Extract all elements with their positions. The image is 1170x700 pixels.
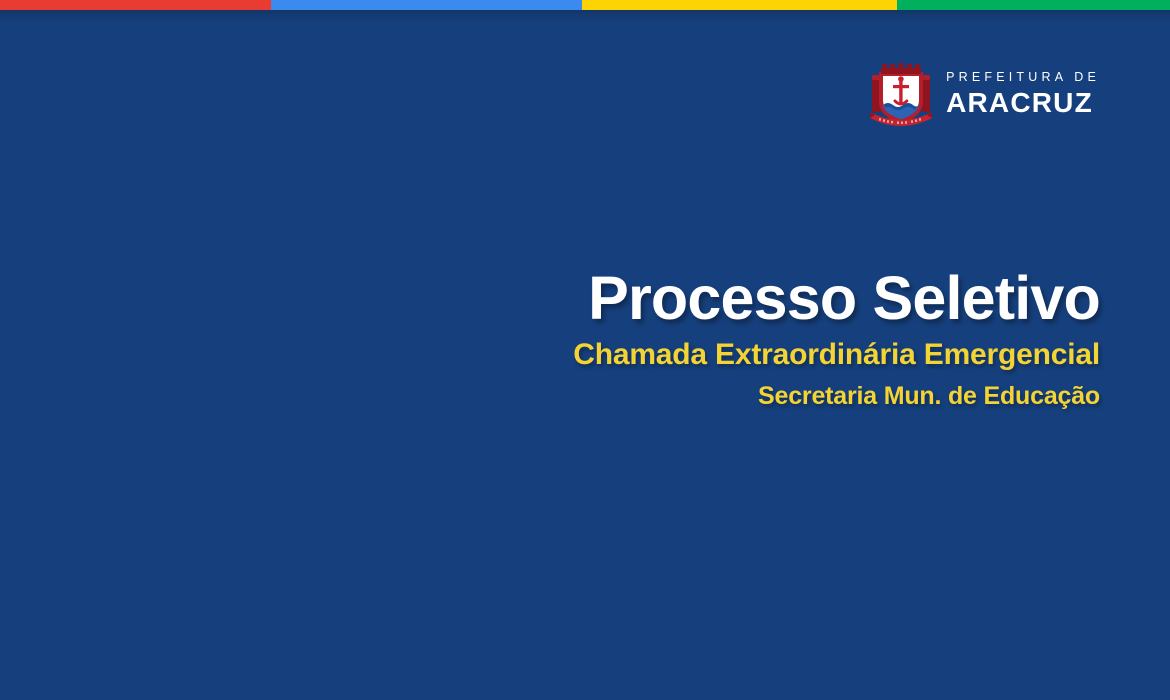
top-bar-segment-yellow (582, 0, 897, 10)
page-department: Secretaria Mun. de Educação (573, 381, 1100, 412)
top-bar-segment-green (897, 0, 1170, 10)
brand-city-name: ARACRUZ (946, 89, 1093, 117)
page-subtitle: Chamada Extraordinária Emergencial (573, 336, 1100, 374)
brand-wordmark: PREFEITURA DE ARACRUZ (946, 71, 1100, 117)
aracruz-coat-of-arms-icon (870, 58, 932, 130)
top-color-bar (0, 0, 1170, 10)
brand-prefecture-label: PREFEITURA DE (946, 71, 1100, 84)
headline-block: Processo Seletivo Chamada Extraordinária… (573, 266, 1100, 412)
top-bar-shadow (0, 10, 1170, 22)
top-bar-segment-red (0, 0, 271, 10)
top-bar-segment-blue (271, 0, 582, 10)
page-title: Processo Seletivo (573, 266, 1100, 330)
brand-logo: PREFEITURA DE ARACRUZ (870, 58, 1100, 130)
